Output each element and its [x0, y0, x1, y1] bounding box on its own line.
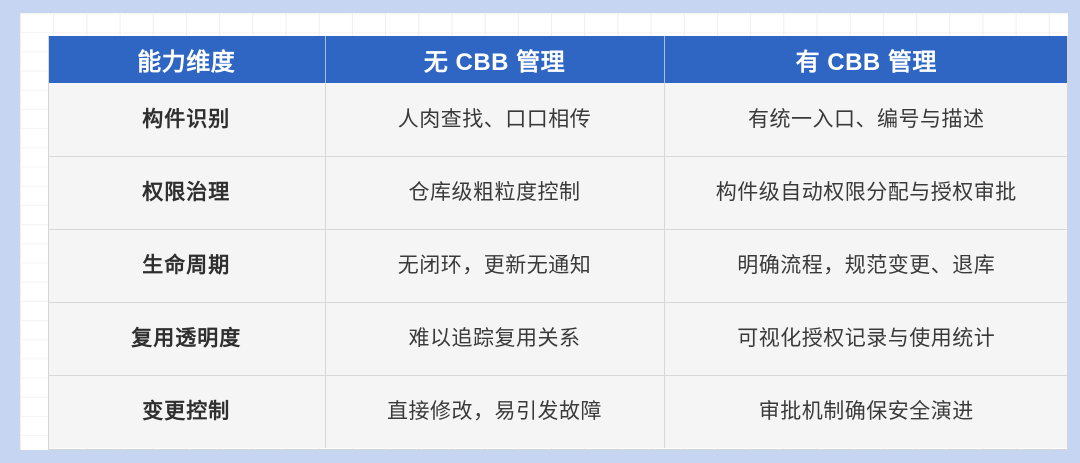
cell-dimension: 复用透明度 [48, 302, 325, 375]
cell-with-cbb: 构件级自动权限分配与授权审批 [664, 156, 1068, 229]
column-header-with-cbb: 有 CBB 管理 [664, 36, 1068, 83]
table-row: 权限治理 仓库级粗粒度控制 构件级自动权限分配与授权审批 [48, 156, 1068, 229]
spreadsheet-canvas: 能力维度 无 CBB 管理 有 CBB 管理 构件识别 人肉查找、口口相传 有统… [20, 13, 1068, 450]
comparison-table: 能力维度 无 CBB 管理 有 CBB 管理 构件识别 人肉查找、口口相传 有统… [48, 36, 1068, 448]
comparison-table-container: 能力维度 无 CBB 管理 有 CBB 管理 构件识别 人肉查找、口口相传 有统… [48, 36, 1068, 450]
table-row: 生命周期 无闭环，更新无通知 明确流程，规范变更、退库 [48, 229, 1068, 302]
cell-with-cbb: 明确流程，规范变更、退库 [664, 229, 1068, 302]
cell-dimension: 生命周期 [48, 229, 325, 302]
table-row: 构件识别 人肉查找、口口相传 有统一入口、编号与描述 [48, 83, 1068, 156]
column-header-without-cbb: 无 CBB 管理 [325, 36, 664, 83]
column-header-dimension: 能力维度 [48, 36, 325, 83]
cell-without-cbb: 直接修改，易引发故障 [325, 375, 664, 448]
cell-with-cbb: 有统一入口、编号与描述 [664, 83, 1068, 156]
cell-without-cbb: 仓库级粗粒度控制 [325, 156, 664, 229]
cell-dimension: 构件识别 [48, 83, 325, 156]
header-row: 能力维度 无 CBB 管理 有 CBB 管理 [48, 36, 1068, 83]
table-body: 构件识别 人肉查找、口口相传 有统一入口、编号与描述 权限治理 仓库级粗粒度控制… [48, 83, 1068, 448]
table-header: 能力维度 无 CBB 管理 有 CBB 管理 [48, 36, 1068, 83]
cell-dimension: 变更控制 [48, 375, 325, 448]
cell-with-cbb: 审批机制确保安全演进 [664, 375, 1068, 448]
cell-without-cbb: 难以追踪复用关系 [325, 302, 664, 375]
page-frame: 能力维度 无 CBB 管理 有 CBB 管理 构件识别 人肉查找、口口相传 有统… [0, 0, 1080, 463]
cell-dimension: 权限治理 [48, 156, 325, 229]
cell-with-cbb: 可视化授权记录与使用统计 [664, 302, 1068, 375]
cell-without-cbb: 无闭环，更新无通知 [325, 229, 664, 302]
cell-without-cbb: 人肉查找、口口相传 [325, 83, 664, 156]
table-row: 复用透明度 难以追踪复用关系 可视化授权记录与使用统计 [48, 302, 1068, 375]
table-row: 变更控制 直接修改，易引发故障 审批机制确保安全演进 [48, 375, 1068, 448]
